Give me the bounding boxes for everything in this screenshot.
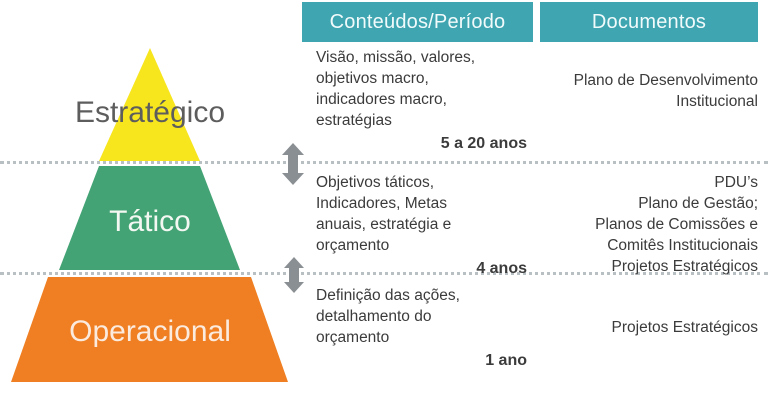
content-line: indicadores macro, bbox=[316, 89, 531, 110]
document-line: Projetos Estratégicos bbox=[540, 256, 758, 277]
column-header-conteudos-periodo: Conteúdos/Período bbox=[302, 2, 533, 42]
content-line: detalhamento do bbox=[316, 306, 531, 327]
content-line: orçamento bbox=[316, 235, 531, 256]
documents-cell-operacional: Projetos Estratégicos bbox=[540, 317, 758, 338]
content-line: objetivos macro, bbox=[316, 68, 531, 89]
double-arrow-up-down-icon bbox=[281, 143, 305, 185]
pyramid-label-tatico: Tático bbox=[0, 205, 300, 239]
diagram-canvas: Conteúdos/Período Documentos Estratégico… bbox=[0, 0, 768, 408]
document-line: Plano de Gestão; bbox=[540, 193, 758, 214]
content-line: Definição das ações, bbox=[316, 285, 531, 306]
content-cell-estrategico: Visão, missão, valores, objetivos macro,… bbox=[316, 47, 531, 154]
document-line: Plano de Desenvolvimento bbox=[540, 70, 758, 91]
content-cell-tatico: Objetivos táticos, Indicadores, Metas an… bbox=[316, 172, 531, 279]
documents-cell-tatico: PDU’s Plano de Gestão; Planos de Comissõ… bbox=[540, 172, 758, 277]
content-line: Objetivos táticos, bbox=[316, 172, 531, 193]
document-line: Projetos Estratégicos bbox=[540, 317, 758, 338]
pyramid-label-operacional: Operacional bbox=[0, 315, 300, 349]
content-cell-operacional: Definição das ações, detalhamento do orç… bbox=[316, 285, 531, 371]
content-line: Indicadores, Metas bbox=[316, 193, 531, 214]
document-line: Institucional bbox=[540, 91, 758, 112]
content-line: estratégias bbox=[316, 110, 531, 131]
column-header-documentos: Documentos bbox=[540, 2, 758, 42]
period-estrategico: 5 a 20 anos bbox=[316, 131, 531, 154]
column-header-documentos-label: Documentos bbox=[592, 11, 706, 34]
content-line: orçamento bbox=[316, 327, 531, 348]
period-operacional: 1 ano bbox=[316, 348, 531, 371]
documents-cell-estrategico: Plano de Desenvolvimento Institucional bbox=[540, 70, 758, 112]
document-line: PDU’s bbox=[540, 172, 758, 193]
period-tatico: 4 anos bbox=[316, 256, 531, 279]
content-line: anuais, estratégia e bbox=[316, 214, 531, 235]
document-line: Planos de Comissões e bbox=[540, 214, 758, 235]
column-header-conteudos-label: Conteúdos/Período bbox=[330, 11, 506, 34]
document-line: Comitês Institucionais bbox=[540, 235, 758, 256]
double-arrow-up-down-icon bbox=[283, 257, 305, 293]
pyramid-label-estrategico: Estratégico bbox=[0, 96, 300, 130]
content-line: Visão, missão, valores, bbox=[316, 47, 531, 68]
